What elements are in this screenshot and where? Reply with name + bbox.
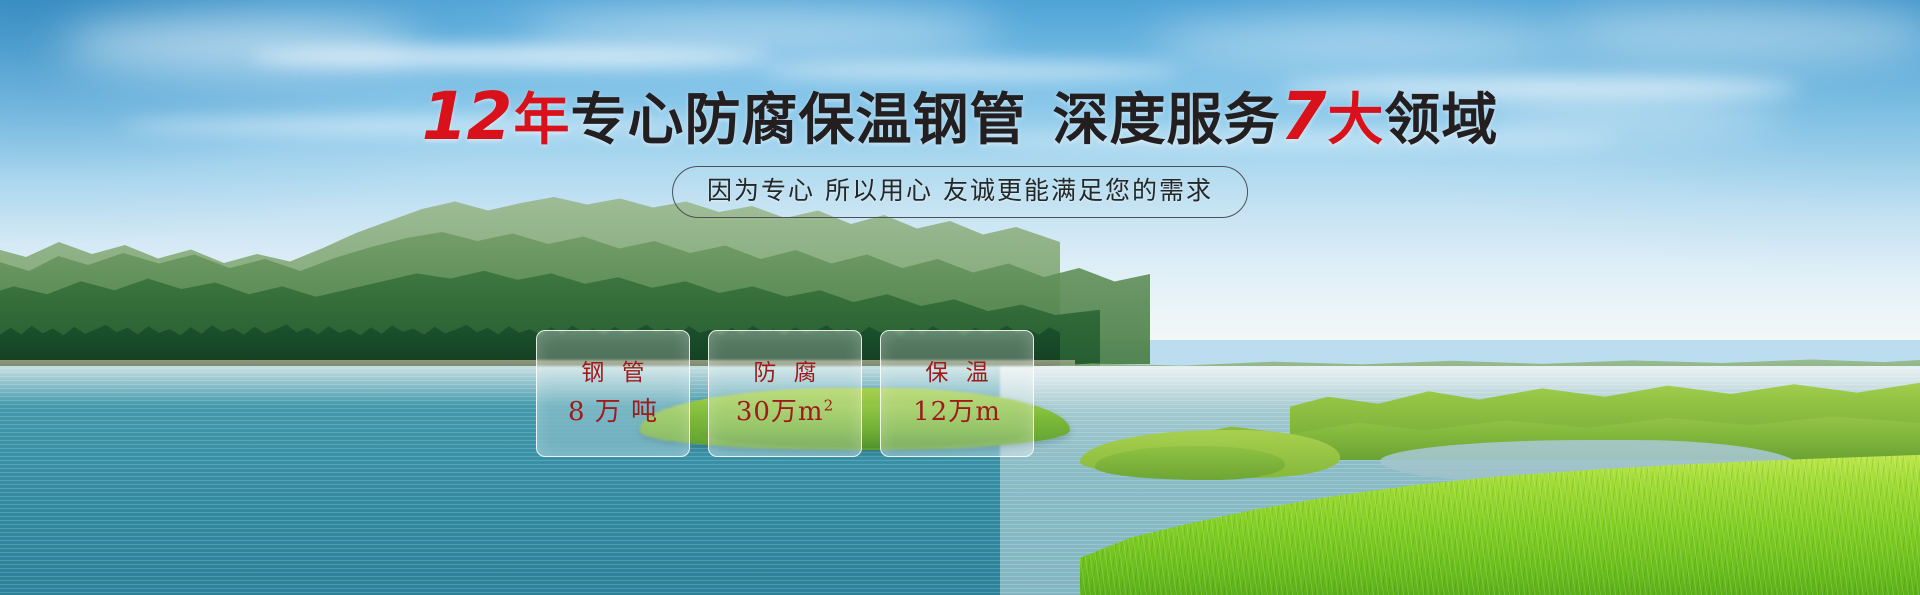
stat-card-value: 8 万 吨 <box>568 399 658 426</box>
stat-card-title: 钢 管 <box>576 361 649 385</box>
stat-card-title: 防 腐 <box>748 361 821 385</box>
subtitle-text: 因为专心 所以用心 友诚更能满足您的需求 <box>707 176 1213 205</box>
headline-segment-two: 深度服务 <box>1052 88 1280 153</box>
headline-seven-number: 7 <box>1280 78 1327 155</box>
stat-value-text: 12万m <box>913 397 1001 427</box>
headline-segment-three: 领域 <box>1384 88 1498 153</box>
headline-seven-unit: 大 <box>1327 88 1384 153</box>
stat-card-steel-pipe[interactable]: 钢 管 8 万 吨 <box>536 330 690 457</box>
headline-segment-one: 专心防腐保温钢管 <box>570 88 1026 153</box>
subtitle-pill: 因为专心 所以用心 友诚更能满足您的需求 <box>672 166 1248 218</box>
stat-value-superscript: 2 <box>824 396 835 414</box>
stat-card-value: 12万m <box>913 399 1001 426</box>
stat-card-value: 30万m2 <box>736 399 834 426</box>
stat-card-anticorrosion[interactable]: 防 腐 30万m2 <box>708 330 862 457</box>
stat-card-insulation[interactable]: 保 温 12万m <box>880 330 1034 457</box>
stat-card-title: 保 温 <box>920 361 993 385</box>
headline-years-number: 12 <box>422 78 514 155</box>
stat-value-text: 8 万 吨 <box>568 397 658 427</box>
stats-card-group: 钢 管 8 万 吨 防 腐 30万m2 保 温 12万m <box>536 330 1034 457</box>
headline: 12年专心防腐保温钢管深度服务7大领域 <box>0 88 1920 150</box>
stat-value-text: 30万m <box>736 397 824 427</box>
headline-years-unit: 年 <box>513 88 570 153</box>
promo-banner: 12年专心防腐保温钢管深度服务7大领域 因为专心 所以用心 友诚更能满足您的需求… <box>0 0 1920 595</box>
banner-content: 12年专心防腐保温钢管深度服务7大领域 因为专心 所以用心 友诚更能满足您的需求… <box>0 0 1920 595</box>
